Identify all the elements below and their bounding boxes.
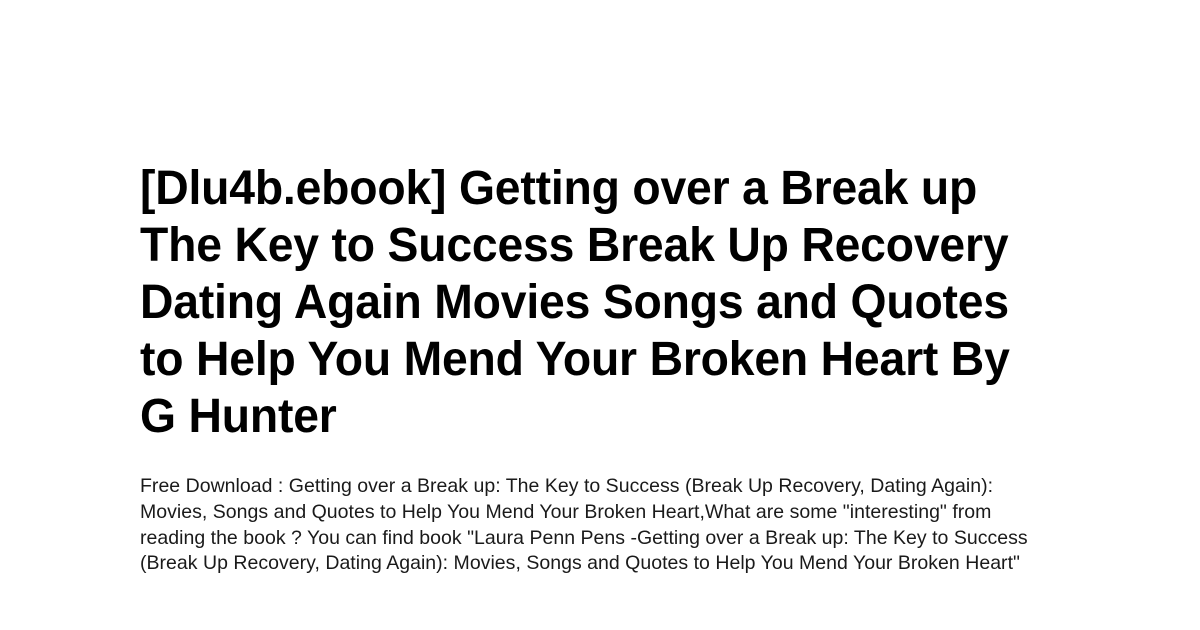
- document-preview-page: [Dlu4b.ebook] Getting over a Break up Th…: [0, 0, 1200, 630]
- page-title: [Dlu4b.ebook] Getting over a Break up Th…: [140, 160, 1048, 445]
- document-content-block: [Dlu4b.ebook] Getting over a Break up Th…: [140, 160, 1048, 577]
- document-description: Free Download : Getting over a Break up:…: [140, 474, 1048, 577]
